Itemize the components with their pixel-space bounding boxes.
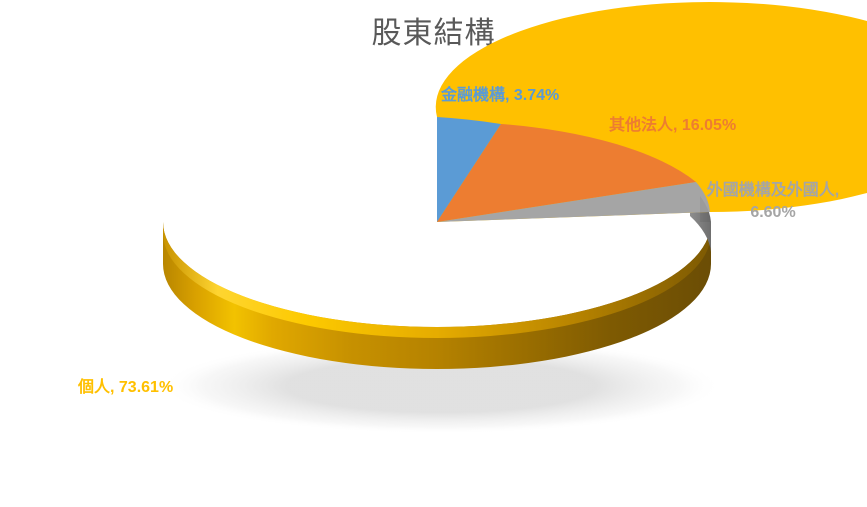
- data-label-separator: ,: [673, 117, 682, 134]
- data-label-value: 73.61%: [119, 379, 173, 396]
- data-label-value: 16.05%: [682, 117, 736, 134]
- pie-chart-graphic: [0, 0, 867, 507]
- data-label-foreign-institutions: 外國機構及外國人, 6.60%: [702, 180, 844, 224]
- data-label-separator: ,: [835, 182, 839, 199]
- data-label-separator: ,: [505, 87, 514, 104]
- data-label-value: 6.60%: [750, 204, 795, 221]
- data-label-name: 外國機構及外國人: [707, 182, 835, 199]
- data-label-financial-institution: 金融機構, 3.74%: [441, 85, 559, 107]
- data-label-value: 3.74%: [514, 87, 559, 104]
- data-label-name: 個人: [78, 379, 110, 396]
- data-label-separator: ,: [110, 379, 119, 396]
- data-label-name: 金融機構: [441, 87, 505, 104]
- data-label-other-corporations: 其他法人, 16.05%: [609, 115, 736, 137]
- data-label-individual: 個人, 73.61%: [78, 377, 173, 399]
- pie-chart-container: 股東結構: [0, 0, 867, 507]
- data-label-name: 其他法人: [609, 117, 673, 134]
